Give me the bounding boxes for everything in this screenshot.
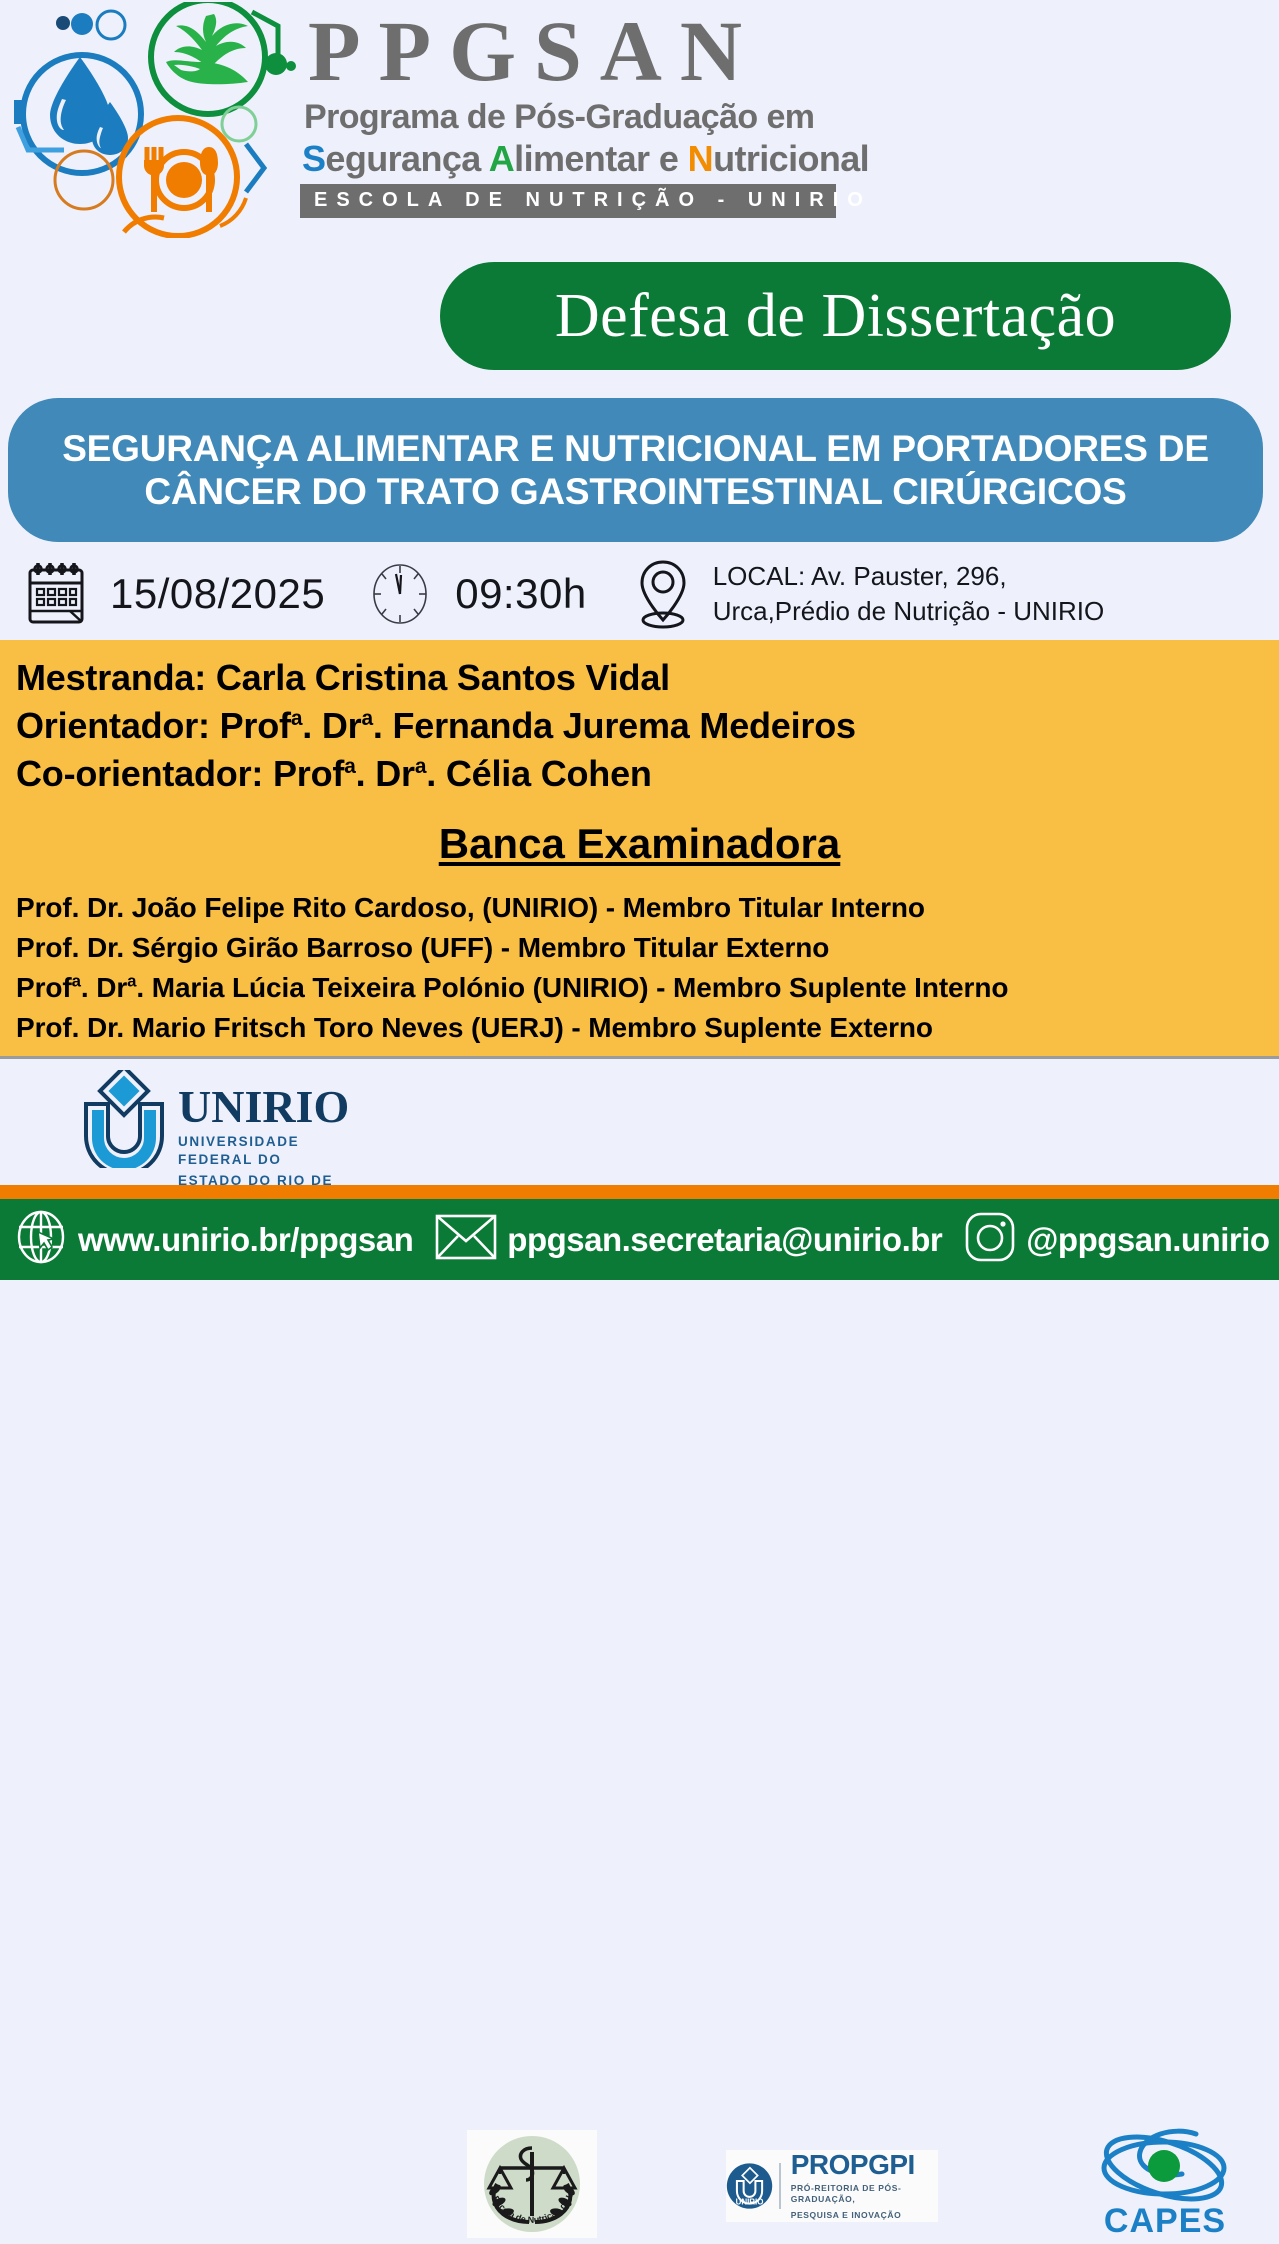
event-location: LOCAL: Av. Pauster, 296, Urca,Prédio de …	[635, 557, 1105, 631]
banca-member-2: Prof. Dr. Sérgio Girão Barroso (UFF) - M…	[16, 928, 1279, 968]
banca-member-3-sup-b: a	[127, 971, 136, 990]
program-line-1: Programa de Pós-Graduação em	[304, 98, 860, 137]
unirio-logo: UNIRIO UNIVERSIDADE FEDERAL DO ESTADO DO…	[78, 1070, 348, 1170]
envelope-icon	[435, 1213, 497, 1266]
website-text: www.unirio.br/ppgsan	[78, 1221, 413, 1259]
thesis-title: SEGURANÇA ALIMENTAR E NUTRICIONAL EM POR…	[34, 427, 1237, 514]
banca-title: Banca Examinadora	[0, 820, 1279, 868]
ppgsan-logo-mark	[6, 2, 306, 238]
coorientador-name: . Célia Cohen	[426, 753, 651, 794]
location-line-1: LOCAL: Av. Pauster, 296,	[713, 559, 1105, 594]
details-panel: Mestranda: Carla Cristina Santos Vidal O…	[0, 640, 1279, 1059]
escola-nutricao-logo: Escola de Nutrição da Unirio	[467, 2130, 597, 2238]
coorientador-sup-b: a	[415, 755, 426, 778]
contact-footer: www.unirio.br/ppgsan ppgsan.secretaria@u…	[0, 1199, 1279, 1280]
thesis-title-line-1: SEGURANÇA ALIMENTAR E NUTRICIONAL EM POR…	[62, 427, 1209, 470]
banca-member-3-prof: Prof	[16, 972, 72, 1003]
coorientador-line: Co-orientador: Profa. Dra. Célia Cohen	[16, 750, 1279, 798]
capes-name: CAPES	[1080, 2202, 1250, 2241]
letter-n: N	[688, 138, 713, 179]
unirio-name: UNIRIO	[178, 1084, 349, 1130]
defense-banner: Defesa de Dissertação	[440, 262, 1231, 370]
contact-website[interactable]: www.unirio.br/ppgsan	[14, 1210, 413, 1269]
orange-divider	[0, 1185, 1279, 1199]
word-seguranca: egurança	[325, 138, 488, 179]
ppgsan-acronym: PPGSAN	[300, 6, 860, 96]
banca-member-1: Prof. Dr. João Felipe Rito Cardoso, (UNI…	[16, 888, 1279, 928]
thesis-title-bar: SEGURANÇA ALIMENTAR E NUTRICIONAL EM POR…	[8, 398, 1263, 542]
propgpi-wordmark: PROPGPI PRÓ-REITORIA DE PÓS-GRADUAÇÃO, P…	[791, 2151, 938, 2221]
word-alimentar: limentar e	[514, 138, 687, 179]
sponsor-logos-strip: UNIRIO UNIVERSIDADE FEDERAL DO ESTADO DO…	[0, 1062, 1279, 1185]
propgpi-divider	[779, 2163, 781, 2209]
orientador-line: Orientador: Profa. Dra. Fernanda Jurema …	[16, 702, 1279, 750]
event-info-row: 15/08/2025	[0, 548, 1279, 640]
event-date: 15/08/2025	[24, 559, 325, 629]
event-time-text: 09:30h	[455, 570, 586, 618]
letter-s: S	[302, 138, 325, 179]
defense-banner-label: Defesa de Dissertação	[555, 281, 1116, 352]
mestranda-line: Mestranda: Carla Cristina Santos Vidal	[16, 654, 1279, 702]
thesis-title-line-2: CÂNCER DO TRATO GASTROINTESTINAL CIRÚRGI…	[62, 470, 1209, 513]
svg-text:UNIRIO: UNIRIO	[736, 2197, 764, 2206]
ppgsan-logo-text: PPGSAN Programa de Pós-Graduação em Segu…	[300, 6, 860, 236]
letter-a: A	[489, 138, 514, 179]
globe-icon	[14, 1210, 68, 1269]
mestranda-label: Mestranda:	[16, 657, 216, 698]
people-block: Mestranda: Carla Cristina Santos Vidal O…	[0, 640, 1279, 798]
banca-member-3-dr: . Dr	[81, 972, 127, 1003]
propgpi-sub-1: PRÓ-REITORIA DE PÓS-GRADUAÇÃO,	[791, 2183, 938, 2205]
event-time: 09:30h	[369, 561, 586, 627]
event-location-text: LOCAL: Av. Pauster, 296, Urca,Prédio de …	[713, 559, 1105, 629]
coorientador-sup-a: a	[344, 755, 355, 778]
event-date-text: 15/08/2025	[110, 570, 325, 618]
orientador-sup-b: a	[361, 707, 372, 730]
email-text: ppgsan.secretaria@unirio.br	[507, 1221, 942, 1259]
orientador-prof: Prof	[220, 705, 291, 746]
coorientador-label: Co-orientador:	[16, 753, 273, 794]
unirio-sub-1: UNIVERSIDADE FEDERAL DO	[178, 1133, 349, 1169]
orientador-dr: . Dr	[302, 705, 361, 746]
location-line-2: Urca,Prédio de Nutrição - UNIRIO	[713, 594, 1105, 629]
contact-email[interactable]: ppgsan.secretaria@unirio.br	[435, 1213, 942, 1266]
mestranda-name: Carla Cristina Santos Vidal	[216, 657, 670, 698]
poster-root: PPGSAN Programa de Pós-Graduação em Segu…	[0, 0, 1279, 1280]
banca-list: Prof. Dr. João Felipe Rito Cardoso, (UNI…	[0, 888, 1279, 1048]
header: PPGSAN Programa de Pós-Graduação em Segu…	[0, 0, 1279, 240]
calendar-icon	[24, 559, 88, 629]
orientador-label: Orientador:	[16, 705, 220, 746]
banca-member-3-sup-a: a	[72, 971, 81, 990]
coorientador-prof: Prof	[273, 753, 344, 794]
orientador-name: . Fernanda Jurema Medeiros	[373, 705, 856, 746]
propgpi-sub-2: PESQUISA E INOVAÇÃO	[791, 2210, 938, 2221]
contact-instagram[interactable]: @ppgsan.unirio	[964, 1211, 1269, 1268]
propgpi-logo: UNIRIO PROPGPI PRÓ-REITORIA DE PÓS-GRADU…	[726, 2150, 938, 2222]
program-line-2: Segurança Alimentar e Nutricional	[302, 138, 860, 180]
banca-member-3-rest: . Maria Lúcia Teixeira Polónio (UNIRIO) …	[136, 972, 1008, 1003]
coorientador-dr: . Dr	[356, 753, 415, 794]
orientador-sup-a: a	[291, 707, 302, 730]
banca-member-4: Prof. Dr. Mario Fritsch Toro Neves (UERJ…	[16, 1008, 1279, 1048]
word-nutricional: utricional	[713, 138, 869, 179]
instagram-icon	[964, 1211, 1016, 1268]
map-pin-icon	[635, 557, 691, 631]
instagram-text: @ppgsan.unirio	[1026, 1221, 1269, 1259]
propgpi-name: PROPGPI	[791, 2151, 938, 2179]
capes-logo: CAPES	[1080, 2128, 1250, 2244]
clock-icon	[369, 561, 431, 627]
school-band: ESCOLA DE NUTRIÇÃO - UNIRIO	[300, 184, 836, 218]
banca-member-3: Profa. Dra. Maria Lúcia Teixeira Polónio…	[16, 968, 1279, 1008]
